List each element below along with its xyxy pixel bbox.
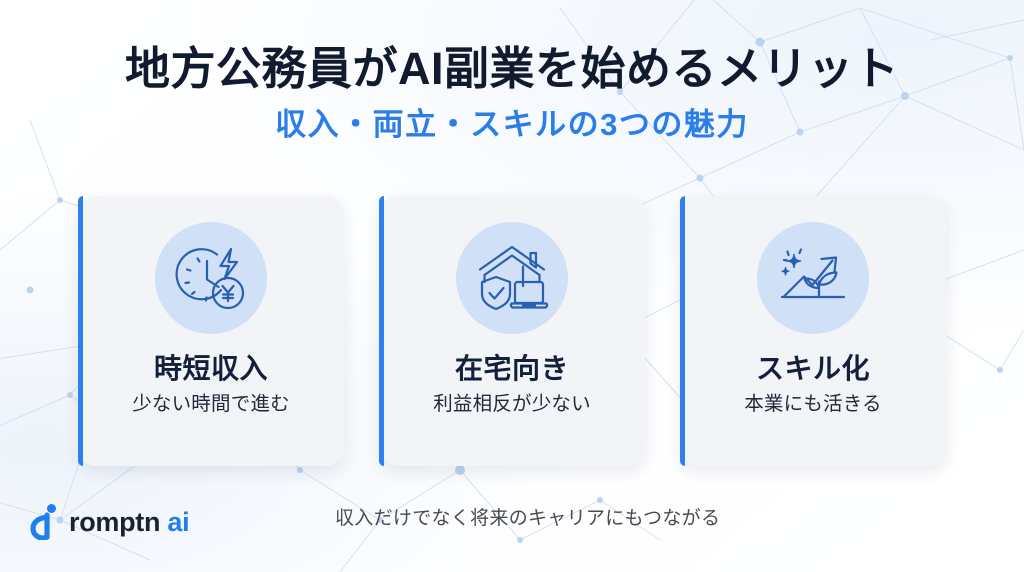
romptn-ai-logo[interactable]: romptn ai: [30, 504, 189, 540]
benefit-card-jitan-shunyu[interactable]: 時短収入 少ない時間で進む: [78, 196, 344, 466]
card-accent-bar: [379, 196, 384, 466]
clock-lightning-yen-icon: [155, 222, 267, 334]
card-title: 時短収入: [154, 354, 268, 385]
slide-footer: romptn ai 収入だけでなく将来のキャリアにもつながる: [0, 498, 1024, 558]
benefit-card-skill-ka[interactable]: スキル化 本業にも活きる: [680, 196, 946, 466]
card-subtitle: 少ない時間で進む: [132, 394, 290, 415]
slide-canvas: 地方公務員がAI副業を始めるメリット 収入・両立・スキルの3つの魅力: [0, 0, 1024, 572]
benefit-card-zaitaku-muki[interactable]: 在宅向き 利益相反が少ない: [379, 196, 645, 466]
slide-header: 地方公務員がAI副業を始めるメリット 収入・両立・スキルの3つの魅力: [0, 44, 1024, 142]
romptn-logo-mark-icon: [30, 504, 60, 540]
card-title: スキル化: [756, 354, 870, 385]
house-shield-laptop-icon: [456, 222, 568, 334]
card-accent-bar: [78, 196, 83, 466]
card-accent-bar: [680, 196, 685, 466]
card-subtitle: 利益相反が少ない: [433, 394, 591, 415]
logo-name: romptn: [69, 507, 160, 537]
page-title: 地方公務員がAI副業を始めるメリット: [0, 44, 1024, 94]
growth-arrow-plant-icon: [757, 222, 869, 334]
footer-note: 収入だけでなく将来のキャリアにもつながる: [335, 508, 720, 531]
benefit-card-list: 時短収入 少ない時間で進む: [78, 196, 946, 466]
card-subtitle: 本業にも活きる: [744, 394, 882, 415]
card-title: 在宅向き: [455, 354, 569, 385]
logo-wordmark: romptn ai: [69, 509, 189, 536]
page-subtitle: 収入・両立・スキルの3つの魅力: [0, 108, 1024, 142]
logo-suffix: ai: [167, 507, 189, 537]
